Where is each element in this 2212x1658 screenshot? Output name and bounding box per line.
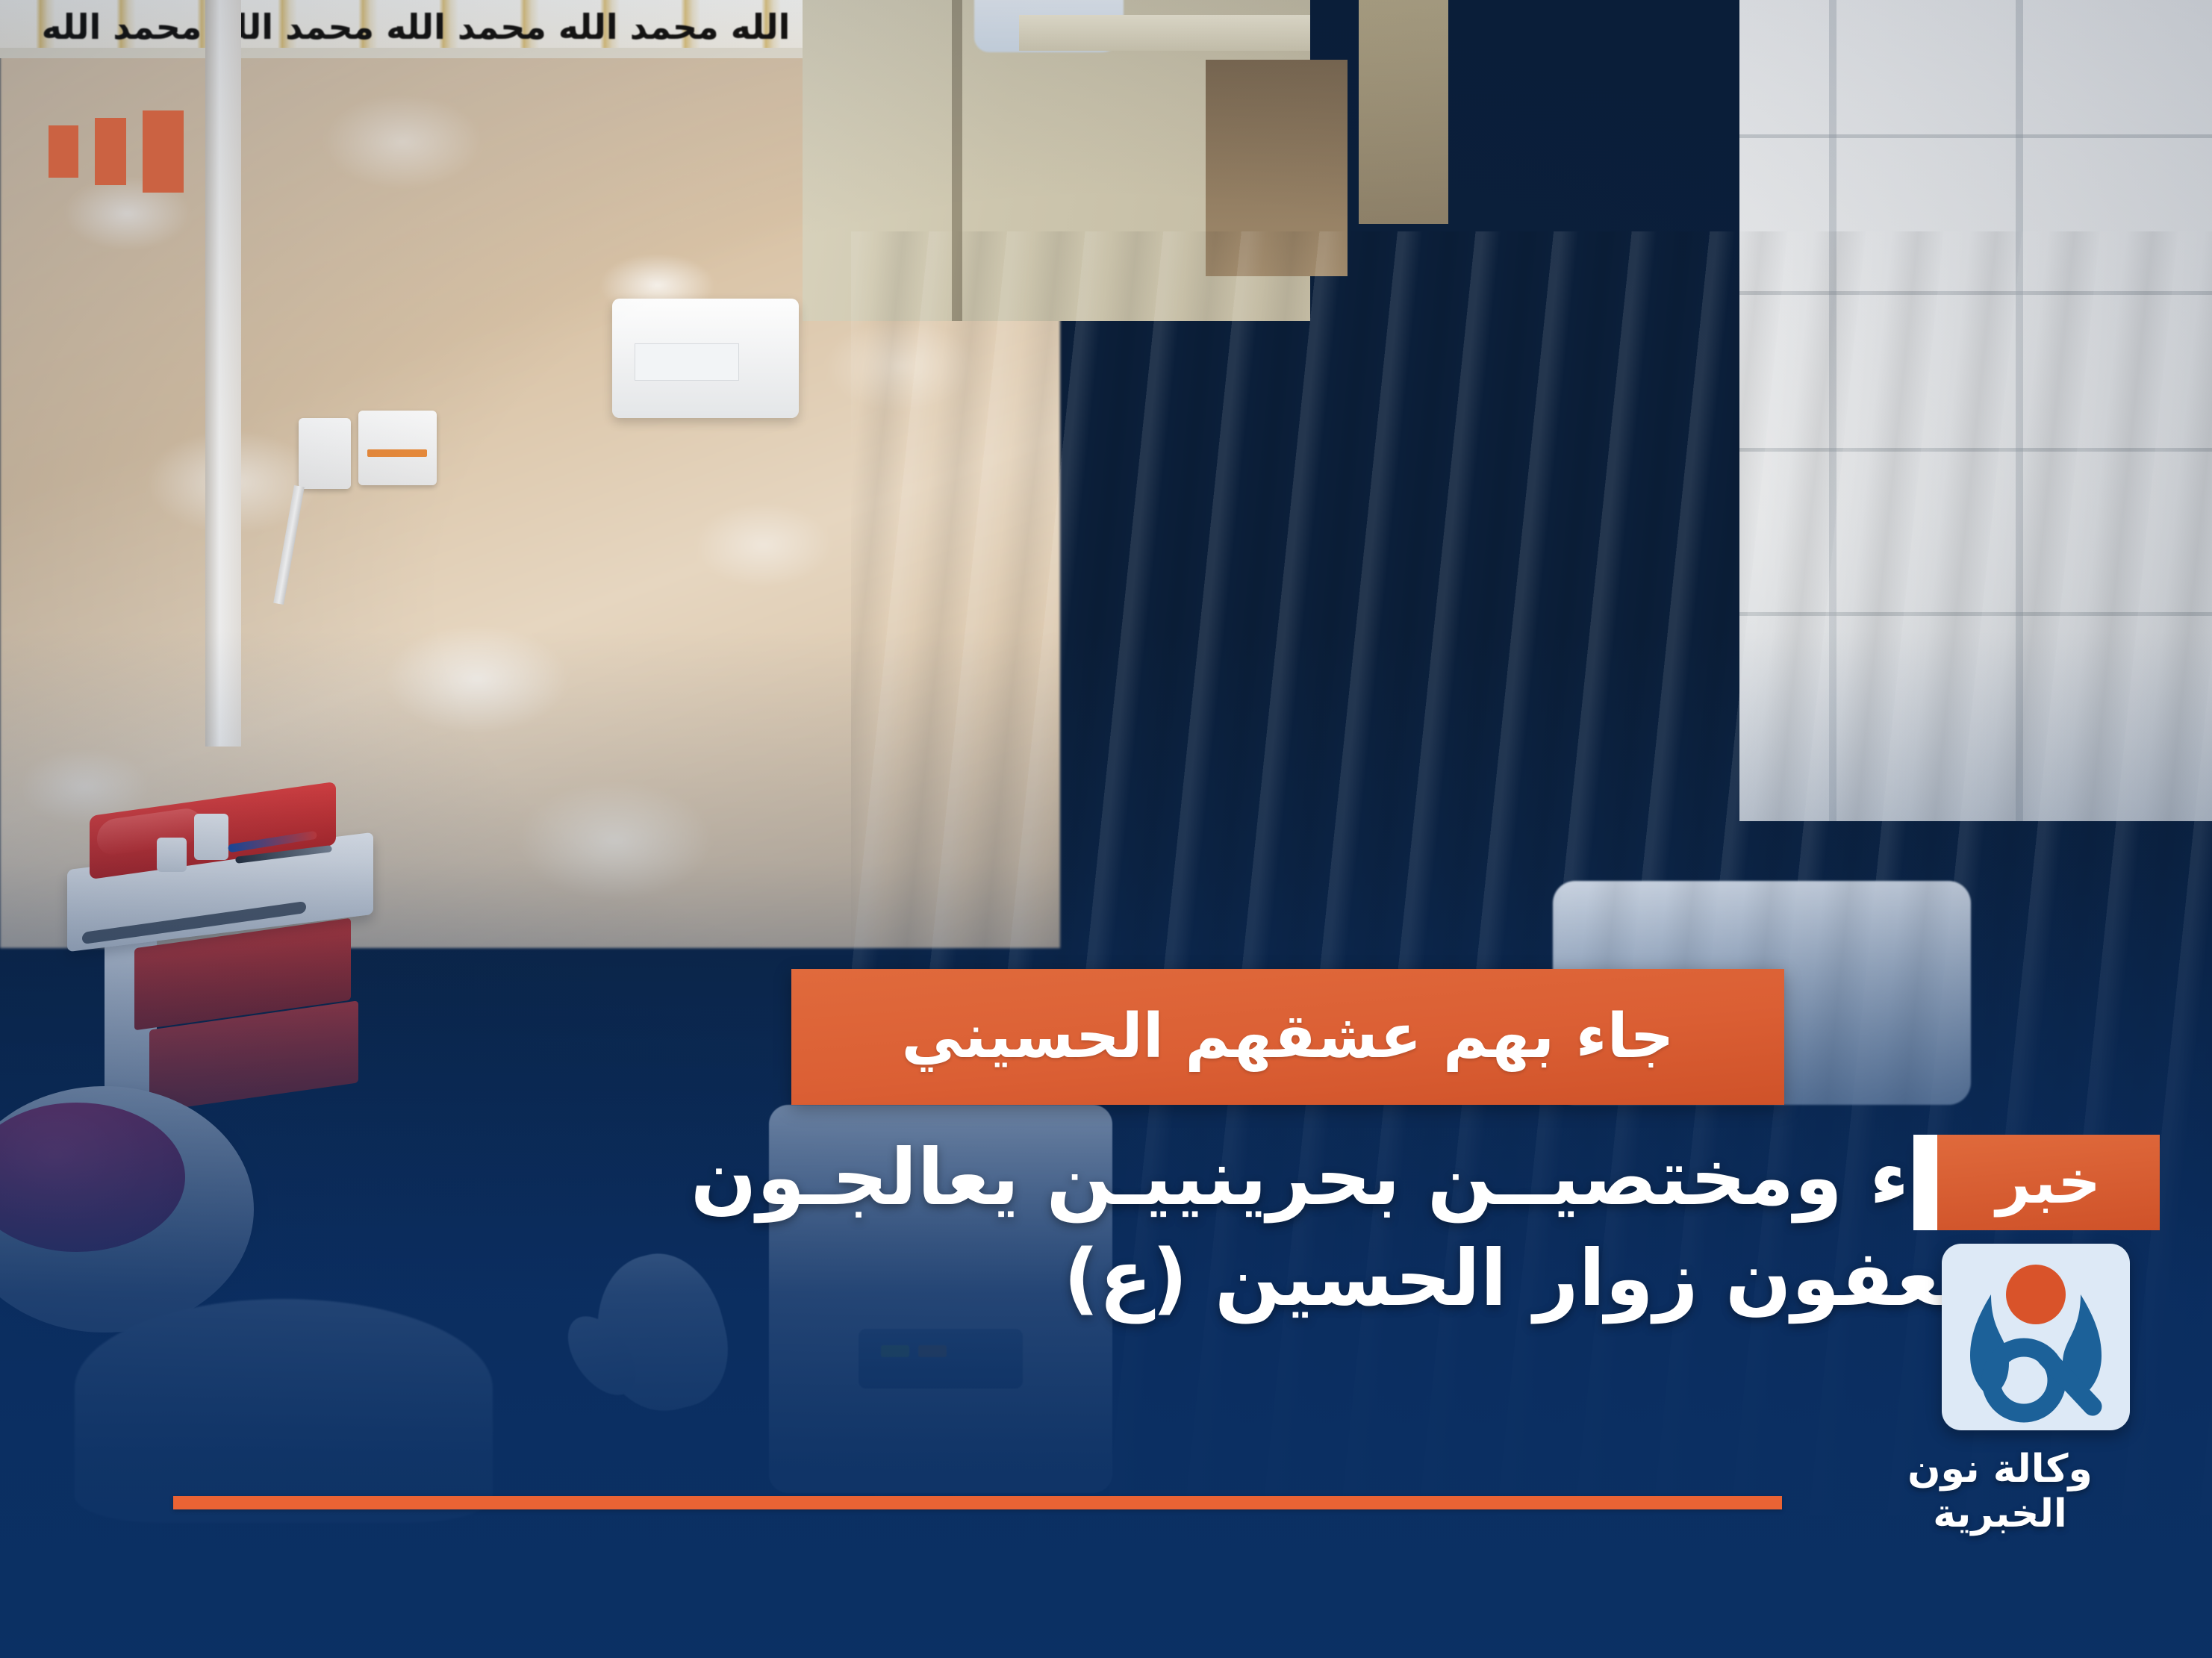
white-bucket [75,1299,493,1523]
news-badge: خبر [1913,1135,2160,1230]
bar-3-icon [49,125,78,178]
light-switch-right [358,411,437,485]
agency-logo-icon [1942,1244,2130,1430]
brand-block: خبر وكالة نون الخبرية [1824,1135,2160,1536]
wooden-cabinet [803,0,1310,321]
kicker-text: جاء بهم عشقهم الحسيني [902,1006,1674,1068]
news-badge-label: خبر [1996,1153,2101,1212]
wall-shadow-band [1359,0,1448,224]
kicker-banner: جاء بهم عشقهم الحسيني [791,969,1784,1105]
news-badge-fill: خبر [1937,1135,2160,1230]
right-wall-panel [1739,0,2212,821]
bar-1-icon [143,110,184,193]
door-frame-column [205,0,241,747]
agency-name: وكالة نون الخبرية [1824,1447,2160,1536]
bar-2-icon [95,118,126,185]
light-switch-left [299,418,351,489]
orange-divider [173,1496,1782,1509]
news-card: الله محمد الله محمد الله محمد الله محمد … [0,0,2212,1658]
wall-dispenser-box [612,299,799,418]
three-bars-mark-icon [49,110,184,193]
news-badge-white-bar [1913,1135,1937,1230]
agency-logo [1942,1244,2130,1430]
